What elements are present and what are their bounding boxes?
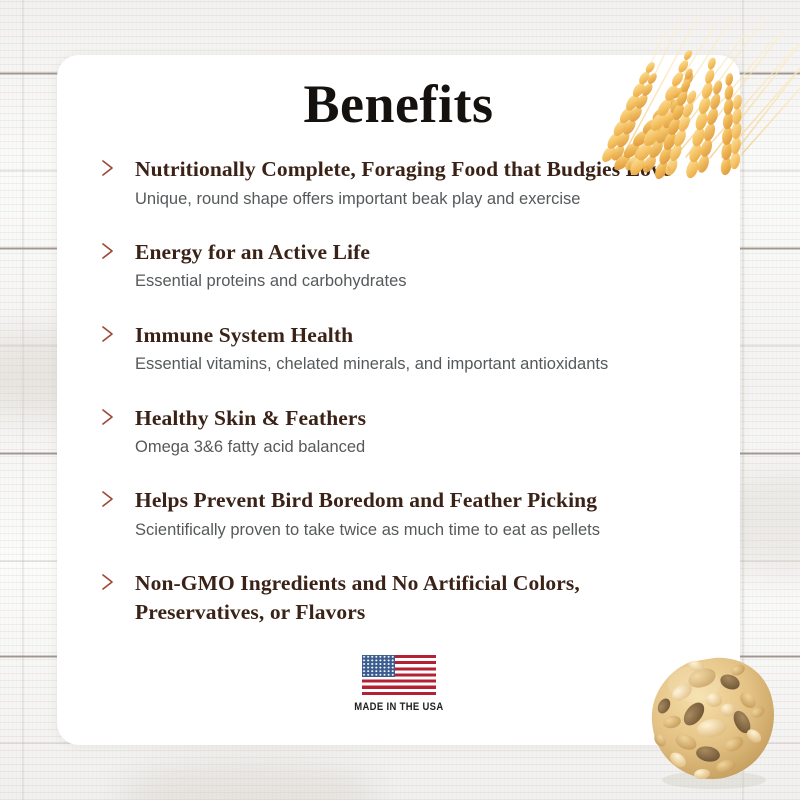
made-in-usa-label: MADE IN THE USA (354, 701, 443, 713)
flag-canton (362, 655, 395, 677)
benefit-subtitle: Omega 3&6 fatty acid balanced (135, 436, 713, 458)
benefit-title: Energy for an Active Life (135, 238, 713, 267)
benefit-subtitle: Essential proteins and carbohydrates (135, 270, 713, 292)
list-item: Immune System Health Essential vitamins,… (93, 321, 713, 376)
list-item: Helps Prevent Bird Boredom and Feather P… (93, 486, 713, 541)
list-item: Non-GMO Ingredients and No Artificial Co… (93, 569, 713, 626)
usa-flag-icon (362, 655, 436, 695)
screenshot-stage: Benefits Nutritionally Complete, Foragin… (0, 0, 800, 800)
list-item: Energy for an Active Life Essential prot… (93, 238, 713, 293)
benefit-title: Non-GMO Ingredients and No Artificial Co… (135, 569, 605, 626)
chevron-right-icon (99, 158, 117, 178)
benefit-subtitle: Unique, round shape offers important bea… (135, 188, 713, 210)
benefits-list: Nutritionally Complete, Foraging Food th… (93, 155, 713, 630)
benefit-title: Helps Prevent Bird Boredom and Feather P… (135, 486, 713, 515)
chevron-right-icon (99, 489, 117, 509)
benefit-subtitle: Scientifically proven to take twice as m… (135, 519, 713, 541)
list-item: Healthy Skin & Feathers Omega 3&6 fatty … (93, 404, 713, 459)
benefit-title: Nutritionally Complete, Foraging Food th… (135, 155, 713, 184)
plank-vertical-seam (742, 0, 744, 800)
chevron-right-icon (99, 324, 117, 344)
chevron-right-icon (99, 407, 117, 427)
benefits-card: Benefits Nutritionally Complete, Foragin… (57, 55, 740, 745)
chevron-right-icon (99, 572, 117, 592)
chevron-right-icon (99, 241, 117, 261)
made-in-usa-badge: MADE IN THE USA (57, 655, 740, 713)
list-item: Nutritionally Complete, Foraging Food th… (93, 155, 713, 210)
benefit-title: Immune System Health (135, 321, 713, 350)
benefit-title: Healthy Skin & Feathers (135, 404, 713, 433)
page-title: Benefits (57, 73, 740, 135)
benefit-subtitle: Essential vitamins, chelated minerals, a… (135, 353, 713, 375)
